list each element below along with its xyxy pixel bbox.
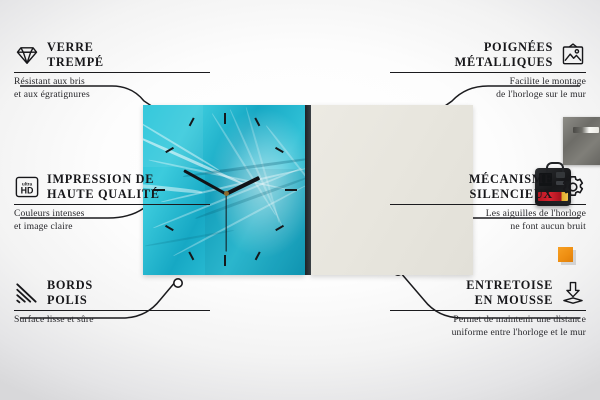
panel-edge	[304, 105, 311, 275]
feature-subtitle: Permet de maintenir une distance uniform…	[390, 314, 586, 339]
feature-bords-polis: BORDS POLIS Surface lisse et sûre	[14, 278, 210, 327]
feature-title: MÉCANISME SILENCIEUX	[469, 172, 553, 201]
arrow-down-pad-icon	[560, 280, 586, 306]
infographic-canvas: VERRE TREMPÉ Résistant aux bris et aux é…	[0, 0, 600, 400]
second-hand	[225, 194, 226, 252]
divider	[14, 310, 210, 311]
gear-icon	[560, 174, 586, 200]
divider	[14, 204, 210, 205]
feature-subtitle: Surface lisse et sûre	[14, 314, 210, 327]
feature-title: ENTRETOISE EN MOUSSE	[466, 278, 553, 307]
feature-subtitle: Résistant aux bris et aux égratignures	[14, 76, 210, 101]
hanging-frame-icon	[560, 42, 586, 68]
divider	[390, 72, 586, 73]
divider	[390, 204, 586, 205]
metal-hanger-plate	[563, 117, 600, 165]
divider	[14, 72, 210, 73]
feature-title: IMPRESSION DE HAUTE QUALITÉ	[47, 172, 160, 201]
feature-subtitle: Facilite le montage de l'horloge sur le …	[390, 76, 586, 101]
feature-title: BORDS POLIS	[47, 278, 93, 307]
feature-impression-haute-qualite: ultra HD IMPRESSION DE HAUTE QUALITÉ Cou…	[14, 172, 210, 234]
feature-verre-trempe: VERRE TREMPÉ Résistant aux bris et aux é…	[14, 40, 210, 102]
feature-title: VERRE TREMPÉ	[47, 40, 104, 69]
ultra-hd-icon: ultra HD	[14, 174, 40, 200]
feature-subtitle: Couleurs intenses et image claire	[14, 208, 210, 233]
feature-poignees-metalliques: POIGNÉES MÉTALLIQUES Facilite le montage…	[390, 40, 586, 102]
feature-mecanisme-silencieux: MÉCANISME SILENCIEUX Les aiguilles de l'…	[390, 172, 586, 234]
feature-subtitle: Les aiguilles de l'horloge ne font aucun…	[390, 208, 586, 233]
foam-spacer	[558, 247, 573, 262]
hanger-slot	[573, 127, 599, 133]
svg-text:HD: HD	[21, 185, 34, 195]
feature-title: POIGNÉES MÉTALLIQUES	[455, 40, 553, 69]
feature-entretoise-en-mousse: ENTRETOISE EN MOUSSE Permet de maintenir…	[390, 278, 586, 340]
diagonal-stripes-icon	[14, 280, 40, 306]
divider	[390, 310, 586, 311]
clock-hub	[224, 191, 229, 196]
diamond-icon	[14, 42, 40, 68]
